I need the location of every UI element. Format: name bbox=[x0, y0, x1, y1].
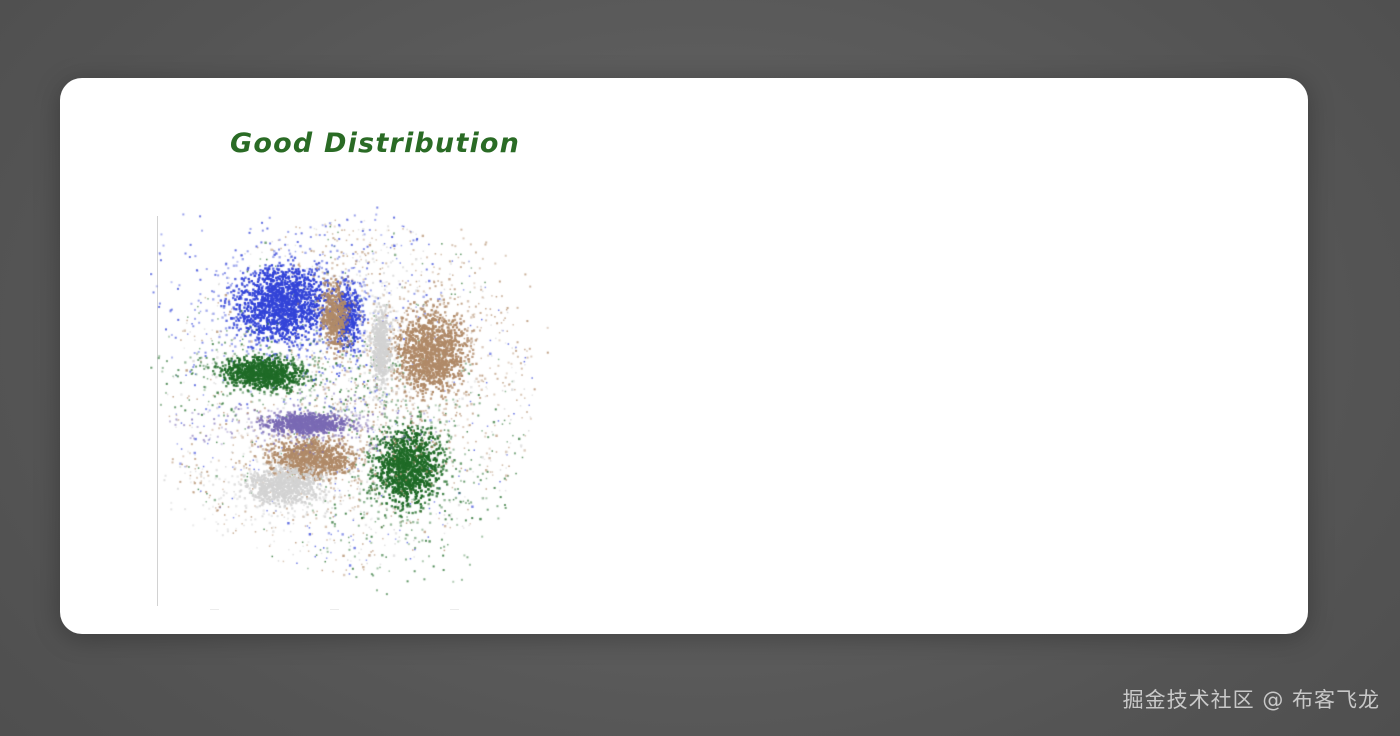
panel-bad-distribution: Bad distribution bbox=[684, 78, 1308, 634]
scatter-plot-good bbox=[150, 206, 550, 611]
panel-title-good: Good Distribution bbox=[230, 128, 520, 159]
axis-tick-bottom bbox=[330, 609, 339, 610]
panel-good-distribution: Good Distribution bbox=[60, 78, 684, 634]
watermark: 掘金技术社区 @ 布客飞龙 bbox=[1123, 684, 1380, 714]
slide-card: Good Distribution Bad distribution bbox=[60, 78, 1308, 634]
axis-tick-bottom bbox=[210, 609, 219, 610]
scatter-canvas-good bbox=[150, 206, 550, 611]
axis-tick-bottom bbox=[450, 609, 459, 610]
